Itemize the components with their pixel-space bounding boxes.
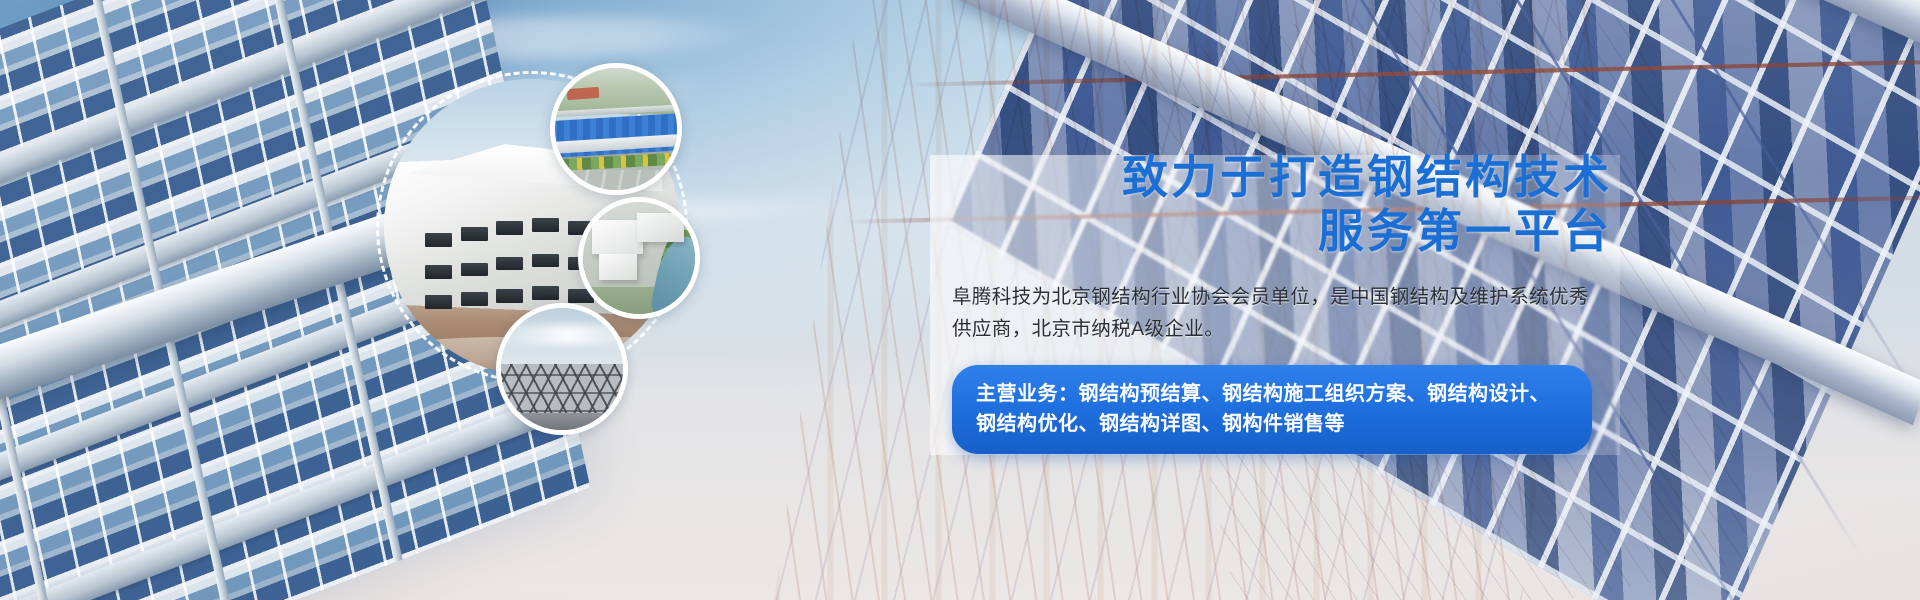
photo-blue-roof-factory <box>550 63 682 195</box>
photo-collage <box>350 45 770 465</box>
photo-steel-space-frame <box>496 303 628 435</box>
hero-banner: 致力于打造钢结构技术 服务第一平台 阜腾科技为北京钢结构行业协会会员单位，是中国… <box>0 0 1920 600</box>
headline-line-2: 服务第一平台 <box>930 204 1612 258</box>
headline-line-1: 致力于打造钢结构技术 <box>1122 150 1612 204</box>
banner-headline: 致力于打造钢结构技术 服务第一平台 <box>930 150 1630 259</box>
banner-description: 阜腾科技为北京钢结构行业协会会员单位，是中国钢结构及维护系统优秀供应商，北京市纳… <box>930 281 1590 346</box>
photo-content <box>555 68 677 190</box>
photo-content <box>583 202 695 314</box>
services-badge: 主营业务：钢结构预结算、钢结构施工组织方案、钢结构设计、钢结构优化、钢结构详图、… <box>952 365 1592 454</box>
banner-content: 致力于打造钢结构技术 服务第一平台 阜腾科技为北京钢结构行业协会会员单位，是中国… <box>930 150 1630 454</box>
photo-campus-riverside <box>578 197 700 319</box>
photo-content <box>501 308 623 430</box>
